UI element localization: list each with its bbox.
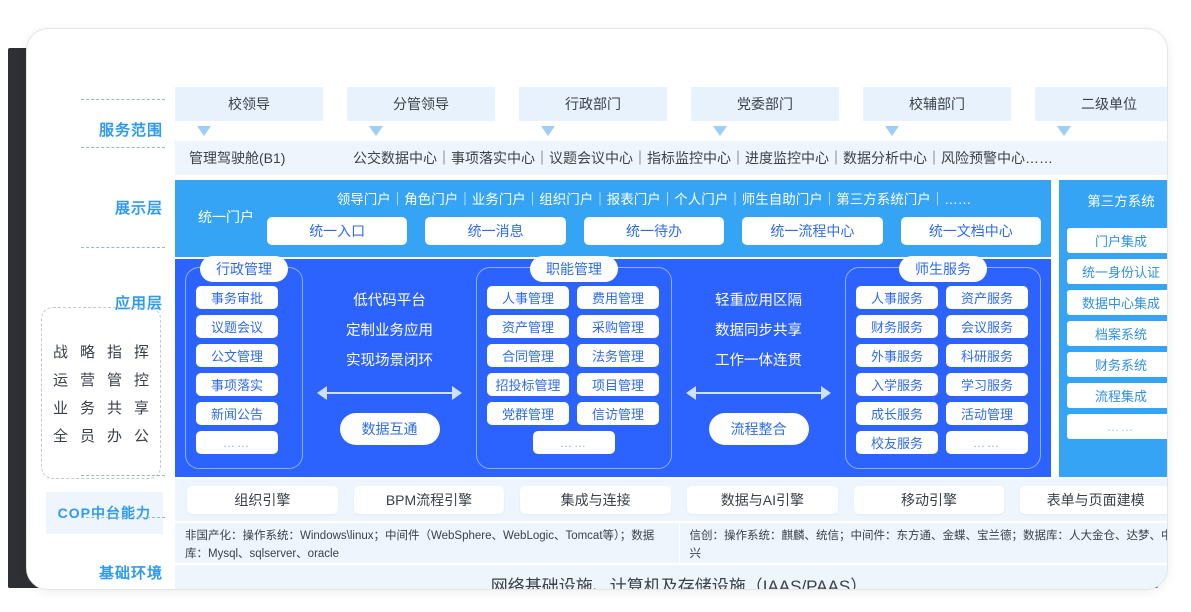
scope-box-secondary-unit[interactable]: 二级单位 xyxy=(1035,87,1168,121)
slogan-char: 挥 xyxy=(134,341,149,362)
app-chip-hr-service[interactable]: 人事服务 xyxy=(856,286,938,309)
app-chip-procurement-mgmt[interactable]: 采购管理 xyxy=(577,315,659,338)
tp-chip-finance-system[interactable]: 财务系统 xyxy=(1067,352,1168,377)
scope-arrow-row xyxy=(175,124,1168,138)
app-chip-document-mgmt[interactable]: 公文管理 xyxy=(196,344,278,367)
app-chip-party-mgmt[interactable]: 党群管理 xyxy=(487,402,569,425)
arrow-down-icon xyxy=(369,126,383,136)
cop-chip-form-page-modeling[interactable]: 表单与页面建模 xyxy=(1020,486,1168,514)
diagram-content: 校领导 分管领导 行政部门 党委部门 校辅部门 二级单位 管理驾驶舱(B1) 公… xyxy=(175,87,1168,590)
arrow-cell xyxy=(691,124,839,138)
arrow-bar xyxy=(325,392,454,394)
group-title-functional: 职能管理 xyxy=(530,256,618,282)
bridge-low-code-platform: 低代码平台 定制业务应用 实现场景闭环 数据互通 xyxy=(303,267,476,469)
cockpit-centers-list: 公交数据中心｜事项落实中心｜议题会议中心｜指标监控中心｜进度监控中心｜数据分析中… xyxy=(353,148,1168,168)
slogan-char: 员 xyxy=(80,425,95,446)
bridge-app-isolation: 轻重应用区隔 数据同步共享 工作一体连贯 流程整合 xyxy=(672,267,845,469)
cop-chip-mobile-engine[interactable]: 移动引擎 xyxy=(854,486,1005,514)
arrow-bar xyxy=(694,392,823,394)
arrow-down-icon xyxy=(541,126,555,136)
display-and-application-wrap: 统一门户 领导门户｜角色门户｜业务门户｜组织门户｜报表门户｜个人门户｜师生自助门… xyxy=(175,180,1168,477)
app-chip-topic-meeting[interactable]: 议题会议 xyxy=(196,315,278,338)
scope-box-school-leader[interactable]: 校领导 xyxy=(175,87,323,121)
cockpit-title: 管理驾驶舱(B1) xyxy=(175,148,353,168)
slogan-row: 运 营 管 控 xyxy=(53,369,149,390)
slogan-char: 运 xyxy=(53,369,68,390)
app-chip-functional-more[interactable]: …… xyxy=(533,431,615,454)
app-chip-expense-mgmt[interactable]: 费用管理 xyxy=(577,286,659,309)
app-chip-research-service[interactable]: 科研服务 xyxy=(946,344,1028,367)
base-env-non-domestic: 非国产化：操作系统：Windows\linux；中间件（WebSphere、We… xyxy=(175,523,679,563)
app-chip-news-announcement[interactable]: 新闻公告 xyxy=(196,402,278,425)
slogan-char: 公 xyxy=(134,425,149,446)
architecture-diagram: 服务范围 展示层 应用层 COP中台能力 基础环境 战 略 指 挥 运 营 管 xyxy=(0,0,1191,612)
tp-chip-portal-integration[interactable]: 门户集成 xyxy=(1067,228,1168,253)
scope-box-party-dept[interactable]: 党委部门 xyxy=(691,87,839,121)
portal-button-unified-message[interactable]: 统一消息 xyxy=(425,217,565,245)
management-cockpit-bar: 管理驾驶舱(B1) 公交数据中心｜事项落实中心｜议题会议中心｜指标监控中心｜进度… xyxy=(175,141,1168,175)
slogan-char: 办 xyxy=(107,425,122,446)
app-chip-finance-service[interactable]: 财务服务 xyxy=(856,315,938,338)
group-functional-management: 职能管理 人事管理 资产管理 合同管理 招投标管理 党群管理 费用管理 采购管理 xyxy=(476,267,672,469)
arrow-cell xyxy=(1035,124,1168,138)
base-env-xinchuang: 信创：操作系统：麒麟、统信；中间件：东方通、金蝶、宝兰德；数据库：人大金仓、达梦… xyxy=(679,523,1169,563)
third-party-title: 第三方系统 xyxy=(1087,190,1155,210)
slogan-char: 管 xyxy=(107,369,122,390)
rail-label-base-environment: 基础环境 xyxy=(99,562,163,583)
rail-divider xyxy=(81,247,165,248)
app-chip-item-execution[interactable]: 事项落实 xyxy=(196,373,278,396)
functional-column-1: 人事管理 资产管理 合同管理 招投标管理 党群管理 xyxy=(487,286,569,425)
bridge-line: 数据同步共享 xyxy=(715,319,802,340)
app-chip-affairs-approval[interactable]: 事务审批 xyxy=(196,286,278,309)
slogan-char: 务 xyxy=(80,397,95,418)
slogan-char: 共 xyxy=(107,397,122,418)
unified-portal-body: 领导门户｜角色门户｜业务门户｜组织门户｜报表门户｜个人门户｜师生自助门户｜第三方… xyxy=(267,188,1041,245)
portal-types-list: 领导门户｜角色门户｜业务门户｜组织门户｜报表门户｜个人门户｜师生自助门户｜第三方… xyxy=(267,188,1041,208)
unified-portal-title: 统一门户 xyxy=(185,207,267,227)
group-title-teacher-student: 师生服务 xyxy=(899,256,987,282)
admin-item-column: 事务审批 议题会议 公文管理 事项落实 新闻公告 …… xyxy=(196,286,278,454)
app-chip-learning-service[interactable]: 学习服务 xyxy=(946,373,1028,396)
rail-divider xyxy=(81,99,165,100)
app-chip-activity-mgmt[interactable]: 活动管理 xyxy=(946,402,1028,425)
slogan-char: 略 xyxy=(80,341,95,362)
application-layer-panel: 行政管理 事务审批 议题会议 公文管理 事项落实 新闻公告 …… xyxy=(175,259,1051,477)
portal-button-unified-todo[interactable]: 统一待办 xyxy=(584,217,724,245)
app-chip-hr-mgmt[interactable]: 人事管理 xyxy=(487,286,569,309)
arrow-cell xyxy=(519,124,667,138)
infrastructure-bar: 网络基础设施、计算机及存储设施（IAAS/PAAS） xyxy=(175,565,1168,590)
rail-divider xyxy=(81,147,165,148)
base-environment-row: 非国产化：操作系统：Windows\linux；中间件（WebSphere、We… xyxy=(175,523,1168,563)
portal-button-process-center[interactable]: 统一流程中心 xyxy=(742,217,882,245)
strategy-slogan-box: 战 略 指 挥 运 营 管 控 业 务 共 享 全 员 办 公 xyxy=(41,307,161,479)
arrow-cell xyxy=(347,124,495,138)
cop-chip-data-ai-engine[interactable]: 数据与AI引擎 xyxy=(687,486,838,514)
arrow-right-head xyxy=(452,386,462,400)
app-chip-service-more[interactable]: …… xyxy=(946,431,1028,454)
tp-chip-more[interactable]: …… xyxy=(1067,414,1168,439)
bridge-line: 工作一体连贯 xyxy=(715,349,802,370)
rail-divider xyxy=(81,517,165,518)
rail-label-service-scope: 服务范围 xyxy=(99,119,163,140)
slogan-row: 战 略 指 挥 xyxy=(53,341,149,362)
app-chip-meeting-service[interactable]: 会议服务 xyxy=(946,315,1028,338)
app-chip-bidding-mgmt[interactable]: 招投标管理 xyxy=(487,373,569,396)
arrow-cell xyxy=(863,124,1011,138)
group-administrative-management: 行政管理 事务审批 议题会议 公文管理 事项落实 新闻公告 …… xyxy=(185,267,303,469)
cop-chip-integration[interactable]: 集成与连接 xyxy=(520,486,671,514)
functional-column-2: 费用管理 采购管理 法务管理 项目管理 信访管理 xyxy=(577,286,659,425)
slogan-char: 营 xyxy=(80,369,95,390)
diagram-card: 服务范围 展示层 应用层 COP中台能力 基础环境 战 略 指 挥 运 营 管 xyxy=(26,28,1168,590)
rail-label-cop-capability: COP中台能力 xyxy=(46,492,163,534)
app-chip-foreign-service[interactable]: 外事服务 xyxy=(856,344,938,367)
tp-chip-unified-identity[interactable]: 统一身份认证 xyxy=(1067,259,1168,284)
cop-capability-row: 组织引擎 BPM流程引擎 集成与连接 数据与AI引擎 移动引擎 表单与页面建模 xyxy=(175,479,1168,521)
service-scope-row: 校领导 分管领导 行政部门 党委部门 校辅部门 二级单位 xyxy=(175,87,1168,121)
app-chip-asset-service[interactable]: 资产服务 xyxy=(946,286,1028,309)
app-chip-asset-mgmt[interactable]: 资产管理 xyxy=(487,315,569,338)
group-title-administrative: 行政管理 xyxy=(200,256,288,282)
bridge-line: 实现场景闭环 xyxy=(346,349,433,370)
app-chip-legal-mgmt[interactable]: 法务管理 xyxy=(577,344,659,367)
app-chip-admission-service[interactable]: 入学服务 xyxy=(856,373,938,396)
tp-chip-data-center-integration[interactable]: 数据中心集成 xyxy=(1067,290,1168,315)
app-chip-project-mgmt[interactable]: 项目管理 xyxy=(577,373,659,396)
bridge-line: 定制业务应用 xyxy=(346,319,433,340)
slogan-row: 业 务 共 享 xyxy=(53,397,149,418)
display-application-column: 统一门户 领导门户｜角色门户｜业务门户｜组织门户｜报表门户｜个人门户｜师生自助门… xyxy=(175,180,1051,477)
app-chip-petition-mgmt[interactable]: 信访管理 xyxy=(577,402,659,425)
app-chip-alumni-service[interactable]: 校友服务 xyxy=(856,431,938,454)
bidirectional-arrow-icon xyxy=(686,385,831,401)
scope-box-admin-dept[interactable]: 行政部门 xyxy=(519,87,667,121)
arrow-down-icon xyxy=(885,126,899,136)
scope-box-support-dept[interactable]: 校辅部门 xyxy=(863,87,1011,121)
portal-button-unified-entry[interactable]: 统一入口 xyxy=(267,217,407,245)
rail-label-display-layer: 展示层 xyxy=(115,197,163,218)
unified-portal-panel: 统一门户 领导门户｜角色门户｜业务门户｜组织门户｜报表门户｜个人门户｜师生自助门… xyxy=(175,180,1051,257)
slogan-row: 全 员 办 公 xyxy=(53,425,149,446)
cop-chip-org-engine[interactable]: 组织引擎 xyxy=(187,486,338,514)
tp-chip-process-integration[interactable]: 流程集成 xyxy=(1067,383,1168,408)
arrow-down-icon xyxy=(197,126,211,136)
arrow-right-head xyxy=(821,386,831,400)
portal-button-row: 统一入口 统一消息 统一待办 统一流程中心 统一文档中心 xyxy=(267,217,1041,245)
arrow-down-icon xyxy=(713,126,727,136)
arrow-cell xyxy=(175,124,323,138)
portal-button-document-center[interactable]: 统一文档中心 xyxy=(901,217,1041,245)
third-party-systems-panel: 第三方系统 门户集成 统一身份认证 数据中心集成 档案系统 财务系统 流程集成 … xyxy=(1059,180,1168,477)
slogan-char: 享 xyxy=(134,397,149,418)
slogan-char: 战 xyxy=(53,341,68,362)
tp-chip-archive-system[interactable]: 档案系统 xyxy=(1067,321,1168,346)
group-teacher-student-service: 师生服务 人事服务 财务服务 外事服务 入学服务 成长服务 校友服务 资产服务 xyxy=(845,267,1041,469)
arrow-down-icon xyxy=(1057,126,1071,136)
app-chip-admin-more[interactable]: …… xyxy=(196,431,278,454)
app-chip-growth-service[interactable]: 成长服务 xyxy=(856,402,938,425)
slogan-char: 全 xyxy=(53,425,68,446)
arrow-left-head xyxy=(686,386,696,400)
bidirectional-arrow-icon xyxy=(317,385,462,401)
pill-data-interoperability[interactable]: 数据互通 xyxy=(340,413,440,445)
arrow-left-head xyxy=(317,386,327,400)
app-chip-contract-mgmt[interactable]: 合同管理 xyxy=(487,344,569,367)
bridge-line: 轻重应用区隔 xyxy=(715,289,802,310)
slogan-char: 控 xyxy=(134,369,149,390)
service-column-2: 资产服务 会议服务 科研服务 学习服务 活动管理 …… xyxy=(946,286,1028,454)
slogan-char: 业 xyxy=(53,397,68,418)
scope-box-deputy-leader[interactable]: 分管领导 xyxy=(347,87,495,121)
pill-process-integration[interactable]: 流程整合 xyxy=(709,413,809,445)
service-column-1: 人事服务 财务服务 外事服务 入学服务 成长服务 校友服务 xyxy=(856,286,938,454)
slogan-char: 指 xyxy=(107,341,122,362)
bridge-line: 低代码平台 xyxy=(353,289,426,310)
cop-chip-bpm-engine[interactable]: BPM流程引擎 xyxy=(354,486,505,514)
